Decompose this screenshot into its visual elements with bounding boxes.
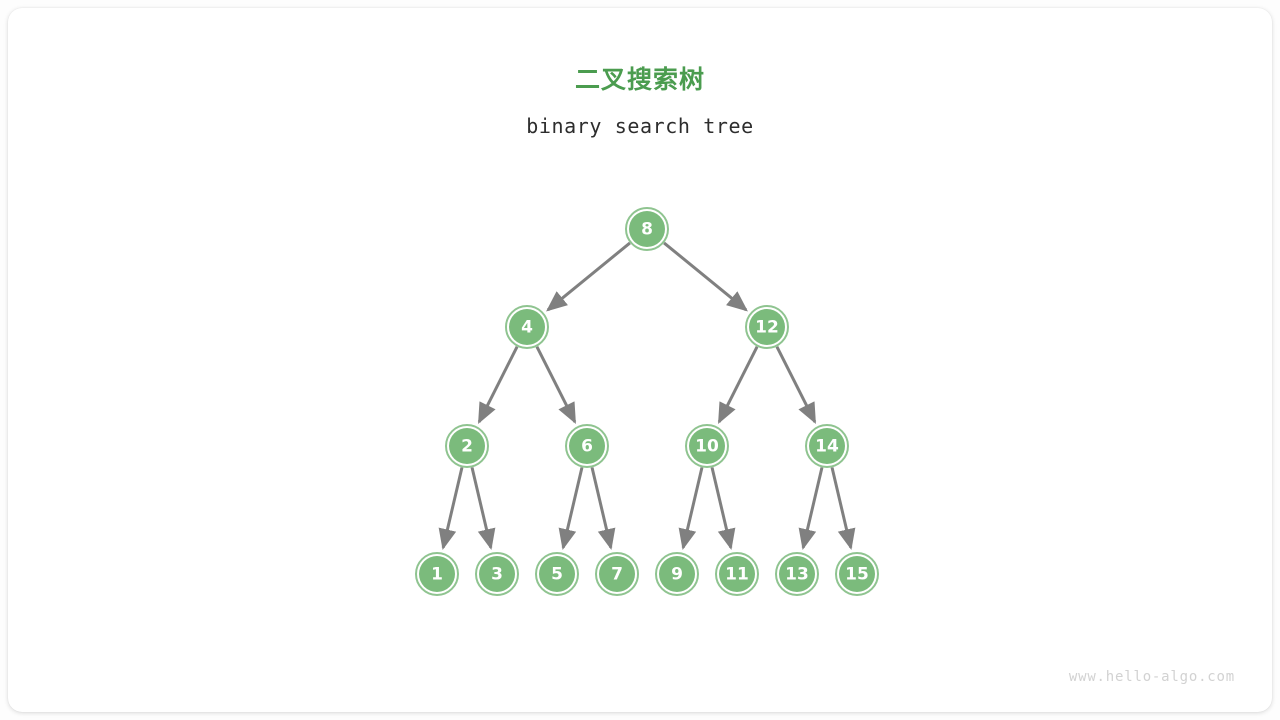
tree-node[interactable]: 7 bbox=[596, 553, 638, 595]
node-value-label: 9 bbox=[671, 565, 683, 585]
binary-search-tree-diagram: 841226101413579111315 bbox=[8, 8, 1272, 712]
tree-edge bbox=[777, 347, 815, 422]
screenshot-stage: 二叉搜索树 binary search tree 841226101413579… bbox=[0, 0, 1280, 720]
node-value-label: 2 bbox=[461, 437, 473, 457]
site-watermark: www.hello-algo.com bbox=[1069, 669, 1235, 685]
node-value-label: 3 bbox=[491, 565, 503, 585]
node-value-label: 11 bbox=[725, 565, 749, 585]
tree-node[interactable]: 12 bbox=[746, 306, 788, 348]
node-value-label: 6 bbox=[581, 437, 593, 457]
tree-node[interactable]: 3 bbox=[476, 553, 518, 595]
tree-node[interactable]: 5 bbox=[536, 553, 578, 595]
node-value-label: 12 bbox=[755, 318, 779, 338]
tree-node[interactable]: 9 bbox=[656, 553, 698, 595]
tree-edges bbox=[443, 243, 851, 548]
node-value-label: 5 bbox=[551, 565, 563, 585]
node-value-label: 8 bbox=[641, 220, 653, 240]
node-value-label: 1 bbox=[431, 565, 443, 585]
tree-edge bbox=[712, 467, 731, 547]
tree-edge bbox=[443, 467, 462, 547]
node-value-label: 7 bbox=[611, 565, 623, 585]
tree-edge bbox=[537, 347, 575, 422]
tree-edge bbox=[592, 467, 611, 547]
tree-edge bbox=[803, 467, 822, 547]
tree-edge bbox=[548, 243, 630, 310]
node-value-label: 10 bbox=[695, 437, 719, 457]
tree-node[interactable]: 6 bbox=[566, 425, 608, 467]
diagram-card: 二叉搜索树 binary search tree 841226101413579… bbox=[8, 8, 1272, 712]
tree-edge bbox=[472, 467, 491, 547]
tree-node[interactable]: 14 bbox=[806, 425, 848, 467]
tree-node[interactable]: 8 bbox=[626, 208, 668, 250]
tree-edge bbox=[683, 467, 702, 547]
tree-edge bbox=[479, 347, 517, 422]
tree-node[interactable]: 4 bbox=[506, 306, 548, 348]
node-value-label: 13 bbox=[785, 565, 809, 585]
tree-node[interactable]: 13 bbox=[776, 553, 818, 595]
tree-node[interactable]: 1 bbox=[416, 553, 458, 595]
node-value-label: 14 bbox=[815, 437, 839, 457]
tree-node[interactable]: 2 bbox=[446, 425, 488, 467]
tree-node[interactable]: 10 bbox=[686, 425, 728, 467]
node-value-label: 15 bbox=[845, 565, 869, 585]
tree-nodes: 841226101413579111315 bbox=[416, 208, 878, 595]
node-value-label: 4 bbox=[521, 318, 533, 338]
tree-node[interactable]: 15 bbox=[836, 553, 878, 595]
tree-edge bbox=[664, 243, 746, 310]
tree-edge bbox=[719, 347, 757, 422]
tree-node[interactable]: 11 bbox=[716, 553, 758, 595]
tree-edge bbox=[832, 467, 851, 547]
tree-edge bbox=[563, 467, 582, 547]
